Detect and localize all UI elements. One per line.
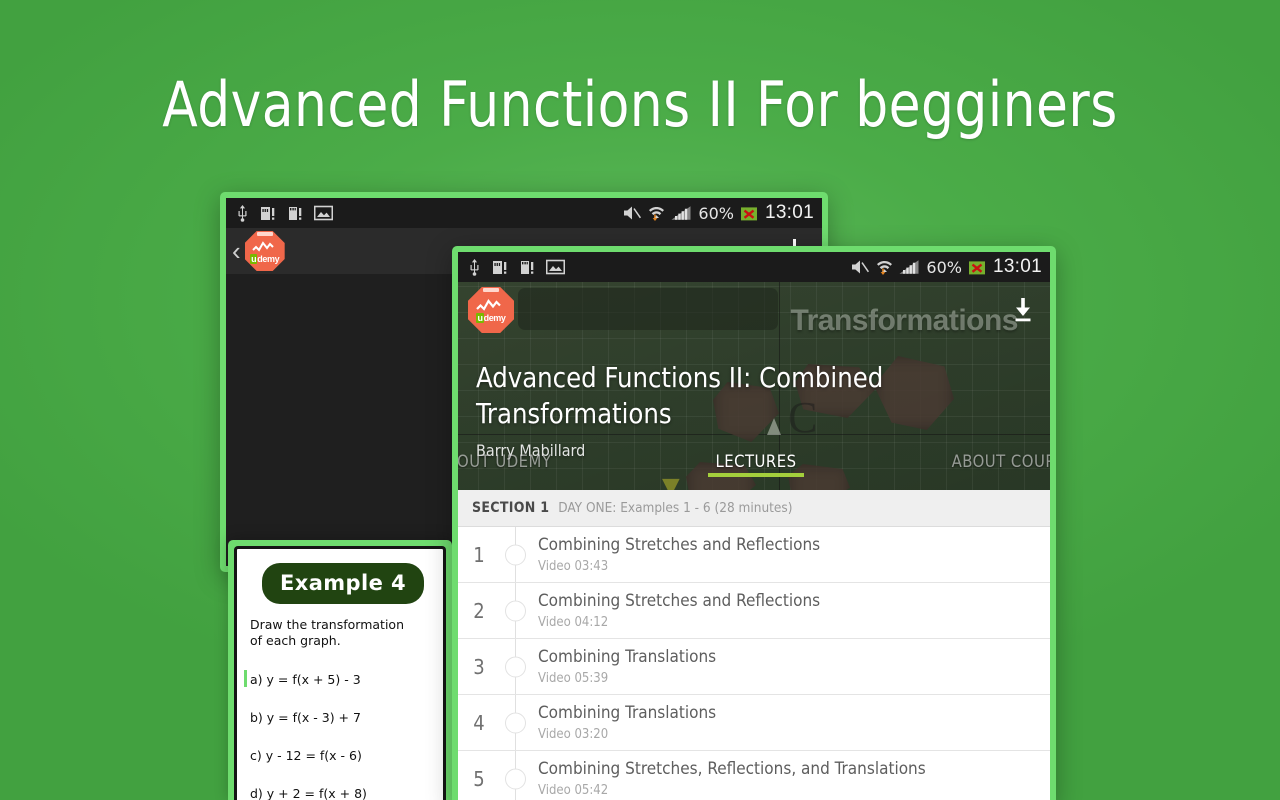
wifi-download-icon — [876, 259, 893, 276]
lecture-row[interactable]: 2 Combining Stretches and Reflections Vi… — [458, 583, 1050, 639]
mute-icon — [623, 205, 642, 221]
worksheet-screen: Example 4 Draw the transformation of eac… — [234, 546, 446, 800]
tab-lectures[interactable]: LECTURES — [649, 448, 862, 471]
back-statusbar: 60% 13:01 — [226, 198, 822, 228]
chart-spark-icon — [252, 241, 278, 253]
logo-cap — [483, 288, 499, 292]
worksheet-instruction: Draw the transformation of each graph. — [250, 617, 430, 649]
lecture-row[interactable]: 3 Combining Translations Video 05:39 — [458, 639, 1050, 695]
udemy-logo[interactable]: udemy — [245, 231, 285, 271]
course-title: Advanced Functions II: Combined Transfor… — [476, 360, 1013, 432]
lecture-title: Combining Translations — [538, 703, 1050, 723]
lecture-progress-track — [500, 583, 532, 638]
usb-icon — [468, 259, 481, 276]
download-icon[interactable] — [1012, 297, 1034, 323]
sim-warning-icon — [520, 259, 535, 276]
worksheet-equation-a: a) y = f(x + 5) - 3 — [250, 672, 430, 687]
lecture-number: 2 — [458, 583, 500, 638]
lecture-status-circle-icon[interactable] — [505, 600, 526, 621]
logo-wordmark: udemy — [250, 254, 279, 264]
lecture-meta: Video 03:20 — [538, 727, 1050, 742]
lecture-status-circle-icon[interactable] — [505, 712, 526, 733]
lecture-info: Combining Translations Video 05:39 — [532, 639, 1050, 694]
section-header[interactable]: SECTION 1 DAY ONE: Examples 1 - 6 (28 mi… — [458, 490, 1050, 527]
lecture-status-circle-icon[interactable] — [505, 544, 526, 565]
lecture-info: Combining Stretches, Reflections, and Tr… — [532, 751, 1050, 800]
lecture-progress-track — [500, 527, 532, 582]
sdcard-warning-icon — [260, 205, 277, 222]
course-meta: Advanced Functions II: Combined Transfor… — [476, 360, 1030, 460]
worksheet-equation-b: b) y = f(x - 3) + 7 — [250, 710, 430, 725]
lecture-meta: Video 03:43 — [538, 559, 1050, 574]
front-phone-screen: 60% 13:01 C ▼ Transformations — [458, 252, 1050, 800]
battery-error-icon — [740, 205, 758, 222]
signal-bars-icon — [671, 205, 692, 221]
lecture-info: Combining Stretches and Reflections Vide… — [532, 583, 1050, 638]
course-appbar: udemy — [458, 282, 1050, 338]
image-icon — [546, 259, 565, 275]
worksheet-window: Example 4 Draw the transformation of eac… — [228, 540, 452, 800]
instruction-line-2: of each graph. — [250, 633, 430, 649]
image-icon — [314, 205, 333, 221]
lecture-number: 1 — [458, 527, 500, 582]
course-tabs: ABOUT UDEMY LECTURES ABOUT COURSE — [458, 448, 1050, 490]
worksheet-equation-d: d) y + 2 = f(x + 8) — [250, 786, 430, 800]
lecture-progress-track — [500, 695, 532, 750]
section-label: SECTION 1 — [472, 500, 549, 516]
front-phone-window: 60% 13:01 C ▼ Transformations — [452, 246, 1056, 800]
usb-icon — [236, 205, 249, 222]
lecture-info: Combining Translations Video 03:20 — [532, 695, 1050, 750]
mute-icon — [851, 259, 870, 275]
clock: 13:01 — [764, 202, 814, 224]
udemy-logo[interactable]: udemy — [468, 287, 514, 333]
lecture-status-circle-icon[interactable] — [505, 768, 526, 789]
instruction-line-1: Draw the transformation — [250, 617, 430, 633]
lecture-title: Combining Stretches, Reflections, and Tr… — [538, 759, 1050, 779]
battery-error-icon — [968, 259, 986, 276]
lecture-title: Combining Translations — [538, 647, 1050, 667]
lecture-number: 4 — [458, 695, 500, 750]
front-statusbar: 60% 13:01 — [458, 252, 1050, 282]
lecture-progress-track — [500, 639, 532, 694]
tab-about-udemy[interactable]: ABOUT UDEMY — [458, 448, 649, 471]
lecture-status-circle-icon[interactable] — [505, 656, 526, 677]
lecture-title: Combining Stretches and Reflections — [538, 535, 1050, 555]
logo-wordmark: udemy — [476, 313, 505, 323]
lecture-meta: Video 05:39 — [538, 671, 1050, 686]
lecture-info: Combining Stretches and Reflections Vide… — [532, 527, 1050, 582]
lecture-row[interactable]: 1 Combining Stretches and Reflections Vi… — [458, 527, 1050, 583]
sim-warning-icon — [288, 205, 303, 222]
signal-bars-icon — [899, 259, 920, 275]
lecture-row[interactable]: 4 Combining Translations Video 03:20 — [458, 695, 1050, 751]
lecture-title: Combining Stretches and Reflections — [538, 591, 1050, 611]
lecture-row[interactable]: 5 Combining Stretches, Reflections, and … — [458, 751, 1050, 800]
lecture-progress-track — [500, 751, 532, 800]
sdcard-warning-icon — [492, 259, 509, 276]
worksheet-badge: Example 4 — [262, 563, 424, 604]
lecture-list[interactable]: SECTION 1 DAY ONE: Examples 1 - 6 (28 mi… — [458, 490, 1050, 800]
lecture-number: 5 — [458, 751, 500, 800]
chart-spark-icon — [476, 299, 506, 312]
battery-percent: 60% — [926, 258, 962, 277]
lecture-meta: Video 05:42 — [538, 783, 1050, 798]
lecture-number: 3 — [458, 639, 500, 694]
worksheet-equation-c: c) y - 12 = f(x - 6) — [250, 748, 430, 763]
lecture-meta: Video 04:12 — [538, 615, 1050, 630]
section-description: DAY ONE: Examples 1 - 6 (28 minutes) — [558, 500, 792, 516]
wifi-download-icon — [648, 205, 665, 222]
tab-about-course[interactable]: ABOUT COURSE — [863, 448, 1050, 471]
page-title: Advanced Functions II For begginers — [45, 68, 1235, 141]
back-button[interactable]: ‹ — [226, 238, 245, 264]
logo-cap — [257, 232, 273, 236]
course-header: C ▼ Transformations udemy Advanced Funct… — [458, 282, 1050, 490]
clock: 13:01 — [992, 256, 1042, 278]
battery-percent: 60% — [698, 204, 734, 223]
